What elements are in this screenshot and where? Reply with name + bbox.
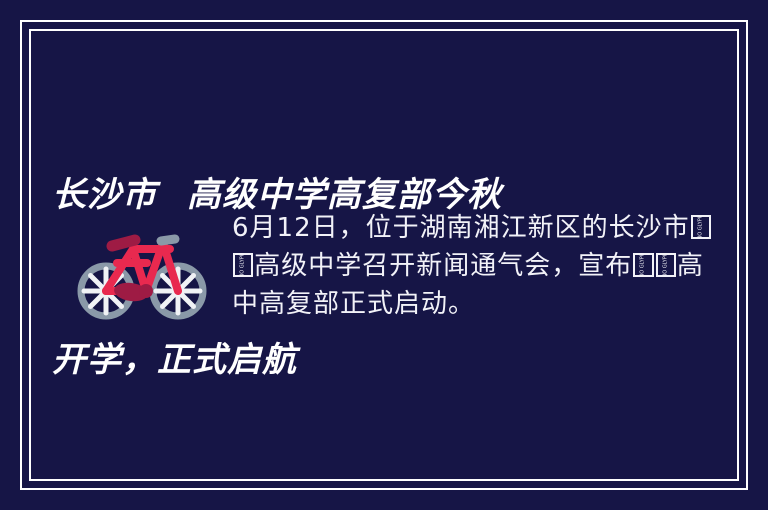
illustration-cell	[52, 205, 232, 323]
missing-glyph-box-2	[233, 253, 253, 277]
bicycle-icon	[77, 219, 207, 323]
missing-glyph-box-4	[656, 253, 676, 277]
article-segment-2: 高级中学召开新闻通气会，宣布	[254, 251, 632, 281]
article-segment-1: 6月12日，位于湖南湘江新区的长沙市	[232, 213, 690, 243]
missing-glyph-box-3	[633, 253, 653, 277]
content-row: 6月12日，位于湖南湘江新区的长沙市高级中学召开新闻通气会，宣布高中高复部正式启…	[52, 205, 716, 323]
missing-glyph-box-1	[691, 215, 711, 239]
headline-line-2: 开学，正式启航	[52, 333, 652, 388]
article-paragraph: 6月12日，位于湖南湘江新区的长沙市高级中学召开新闻通气会，宣布高中高复部正式启…	[232, 205, 716, 323]
poster-canvas: 长沙市高级中学高复部今秋 开学，正式启航	[0, 0, 768, 510]
